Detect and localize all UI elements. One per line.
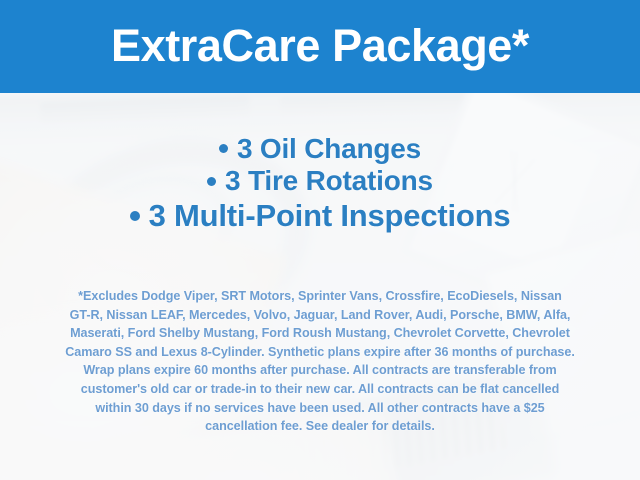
bullet-dot-icon bbox=[219, 144, 228, 153]
extracare-package-ad: ExtraCare Package* 3 Oil Changes 3 Tire … bbox=[0, 0, 640, 480]
benefit-label: 3 Multi-Point Inspections bbox=[149, 198, 511, 233]
photo-vent-shape-left bbox=[40, 95, 251, 122]
disclaimer-line: cancellation fee. See dealer for details… bbox=[18, 417, 622, 436]
photo-vent-shape-right bbox=[280, 93, 520, 115]
bullet-dot-icon bbox=[130, 211, 140, 221]
disclaimer-line: customer's old car or trade-in to their … bbox=[18, 380, 622, 399]
benefit-label: 3 Oil Changes bbox=[237, 133, 421, 164]
disclaimer-line: Maserati, Ford Shelby Mustang, Ford Rous… bbox=[18, 324, 622, 343]
disclaimer-line: within 30 days if no services have been … bbox=[18, 399, 622, 418]
bullet-dot-icon bbox=[207, 177, 216, 186]
benefit-item-oil-changes: 3 Oil Changes bbox=[0, 133, 640, 165]
disclaimer-line: GT-R, Nissan LEAF, Mercedes, Volvo, Jagu… bbox=[18, 306, 622, 325]
page-title: ExtraCare Package* bbox=[111, 23, 529, 68]
disclaimer-line: Camaro SS and Lexus 8-Cylinder. Syntheti… bbox=[18, 343, 622, 362]
benefit-item-multi-point-inspections: 3 Multi-Point Inspections bbox=[0, 198, 640, 234]
benefit-item-tire-rotations: 3 Tire Rotations bbox=[0, 165, 640, 197]
header-bar: ExtraCare Package* bbox=[0, 0, 640, 93]
disclaimer-text: *Excludes Dodge Viper, SRT Motors, Sprin… bbox=[0, 287, 640, 436]
benefit-label: 3 Tire Rotations bbox=[225, 165, 433, 196]
benefits-list: 3 Oil Changes 3 Tire Rotations 3 Multi-P… bbox=[0, 133, 640, 234]
disclaimer-line: Wrap plans expire 60 months after purcha… bbox=[18, 361, 622, 380]
disclaimer-line: *Excludes Dodge Viper, SRT Motors, Sprin… bbox=[18, 287, 622, 306]
